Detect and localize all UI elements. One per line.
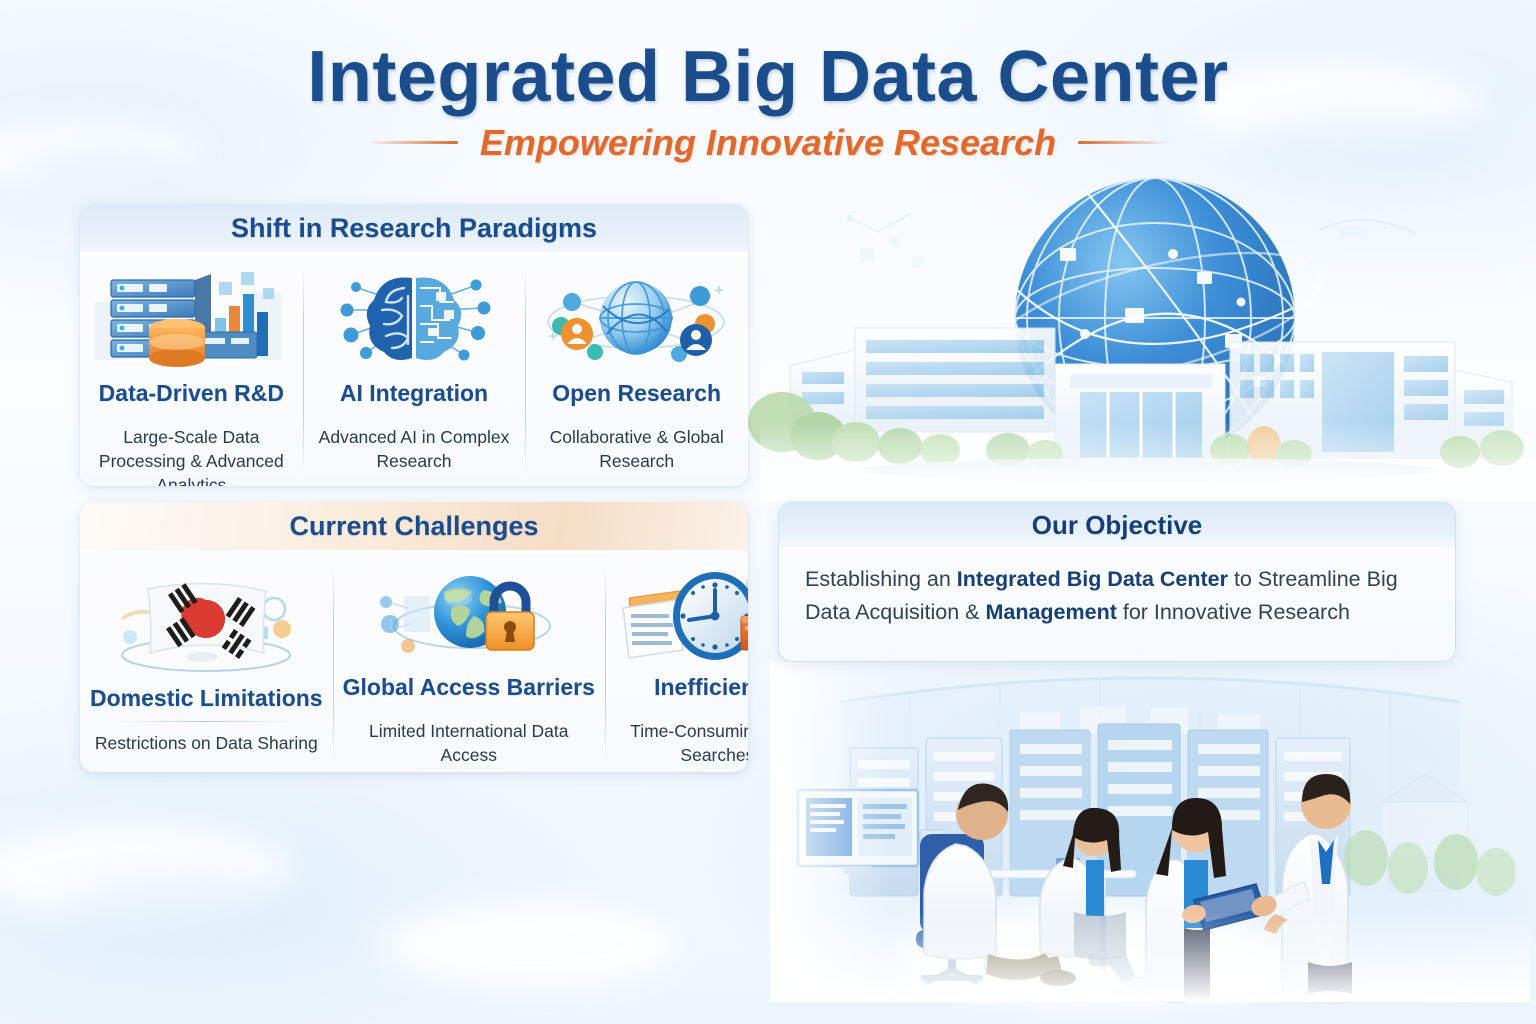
card-description: Advanced AI in Complex Research: [313, 426, 516, 474]
card-title: Inefficiency: [654, 674, 748, 701]
card-row: Data-Driven R&D Large-Scale Data Process…: [80, 252, 748, 486]
card-description: Limited International Data Access: [343, 720, 595, 768]
card-divider: [116, 721, 297, 722]
panel-our-objective: Our Objective Establishing an Integrated…: [778, 502, 1456, 662]
card-description: Restrictions on Data Sharing: [95, 732, 318, 756]
card-description: Collaborative & Global Research: [535, 426, 738, 474]
card-ai-integration[interactable]: AI Integration Advanced AI in Complex Re…: [303, 252, 526, 486]
card-open-research[interactable]: Open Research Collaborative & Global Res…: [525, 252, 748, 486]
card-title: AI Integration: [340, 380, 488, 407]
objective-heading: Our Objective: [779, 503, 1455, 547]
card-title: Domestic Limitations: [90, 685, 323, 712]
header: Integrated Big Data Center Empowering In…: [0, 40, 1536, 164]
cloud-decoration: [380, 900, 680, 990]
campus-globe-illustration: [760, 170, 1536, 500]
globe-network-icon: [539, 266, 734, 370]
panel-heading: Current Challenges: [80, 502, 748, 550]
panel-heading: Shift in Research Paradigms: [80, 204, 748, 252]
card-title: Global Access Barriers: [343, 674, 595, 701]
subtitle-dash-right: [1078, 141, 1170, 144]
card-global-access-barriers[interactable]: Global Access Barriers Limited Internati…: [333, 550, 605, 772]
card-title: Open Research: [552, 380, 721, 407]
card-row: Domestic Limitations Restrictions on Dat…: [80, 550, 748, 772]
card-description: Large-Scale Data Processing & Advanced A…: [90, 426, 293, 486]
card-inefficiency[interactable]: Inefficiency Time-Consuming Data Searche…: [605, 550, 748, 772]
subtitle-row: Empowering Innovative Research: [0, 122, 1536, 164]
panel-shift-in-research-paradigms: Shift in Research Paradigms: [80, 204, 748, 486]
card-domestic-limitations[interactable]: Domestic Limitations Restrictions on Dat…: [80, 550, 333, 772]
subtitle-dash-left: [366, 141, 458, 144]
cloud-decoration: [60, 880, 340, 960]
panel-current-challenges: Current Challenges: [80, 502, 748, 772]
clock-documents-icon: [615, 564, 748, 664]
globe-lock-icon: [374, 564, 564, 664]
korean-flag-icon: [106, 564, 306, 675]
card-description: Time-Consuming Data Searches: [615, 720, 748, 768]
objective-text: Establishing an Integrated Big Data Cent…: [779, 547, 1455, 640]
card-data-driven-rd[interactable]: Data-Driven R&D Large-Scale Data Process…: [80, 252, 303, 486]
page-subtitle: Empowering Innovative Research: [480, 122, 1056, 164]
page-title: Integrated Big Data Center: [0, 40, 1536, 116]
server-rack-icon: [91, 266, 291, 370]
researchers-illustration: [770, 662, 1530, 1002]
ai-brain-icon: [324, 266, 504, 370]
card-title: Data-Driven R&D: [99, 380, 284, 407]
